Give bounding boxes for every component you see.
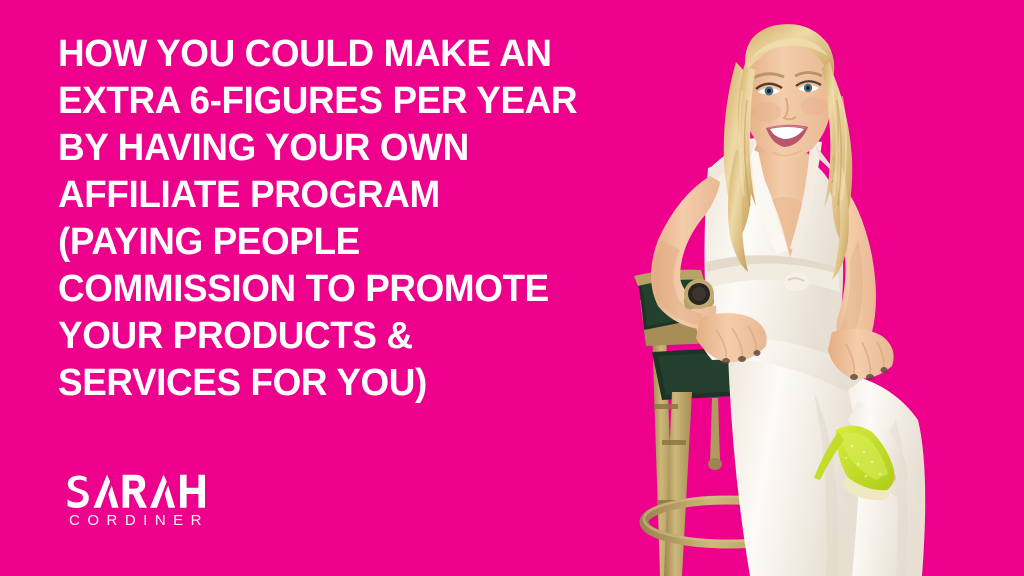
logo-name <box>66 473 209 509</box>
headline-line-7: YOUR PRODUCTS & <box>58 313 601 360</box>
headline-line-2: EXTRA 6-FIGURES PER YEAR <box>58 78 601 125</box>
headline-block: HOW YOU COULD MAKE AN EXTRA 6-FIGURES PE… <box>58 31 618 407</box>
brand-logo: CORDINER <box>66 473 209 531</box>
logo-surname: CORDINER <box>69 511 209 531</box>
headline-line-5: (PAYING PEOPLE <box>58 219 601 266</box>
headline-line-4: AFFILIATE PROGRAM <box>58 172 601 219</box>
headline-line-3: BY HAVING YOUR OWN <box>58 125 601 172</box>
slide-canvas: HOW YOU COULD MAKE AN EXTRA 6-FIGURES PE… <box>0 0 1024 576</box>
presenter-photo <box>600 0 1024 576</box>
headline-line-8: SERVICES FOR YOU) <box>58 360 601 407</box>
headline-line-6: COMMISSION TO PROMOTE <box>58 266 601 313</box>
headline-line-1: HOW YOU COULD MAKE AN <box>58 31 601 78</box>
